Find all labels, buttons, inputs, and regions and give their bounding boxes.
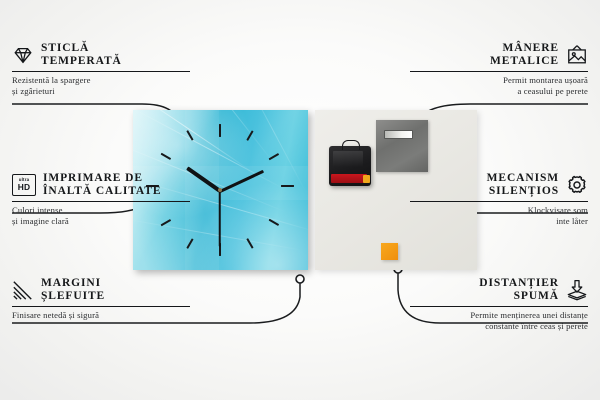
feature-title-line1: MARGINI	[41, 277, 105, 290]
clock-movement	[329, 146, 371, 186]
feature-subtitle-line1: Finisare netedă și sigură	[12, 310, 190, 321]
clock-tick	[269, 219, 279, 226]
feature-title-line2: TEMPERATĂ	[41, 55, 122, 68]
feature-polished-edges: MARGINI ȘLEFUITE Finisare netedă și sigu…	[12, 277, 190, 321]
feature-subtitle-line1: Permite menținerea unei distanțe	[410, 310, 588, 321]
gear-icon	[566, 174, 588, 196]
feature-foam-spacer: DISTANȚIER SPUMĂ Permite menținerea unei…	[410, 277, 588, 331]
feature-subtitle-line2: constante între ceas și perete	[410, 321, 588, 332]
clock-tick	[186, 130, 193, 140]
feature-title-line1: IMPRIMARE DE	[43, 172, 161, 185]
feature-title-line2: SILENȚIOS	[487, 185, 559, 198]
clock-tick	[219, 124, 221, 137]
movement-bail	[342, 140, 360, 150]
clock-tick	[246, 238, 253, 248]
feature-title-line2: ÎNALTĂ CALITATE	[43, 185, 161, 198]
clock-tick	[281, 185, 294, 187]
feature-divider	[12, 201, 190, 202]
feature-subtitle-line1: Rezistentă la spargere	[12, 75, 190, 86]
battery-polarity-mark	[363, 175, 370, 183]
feature-metal-handles: MÂNERE METALICE Permit montarea ușoară a…	[410, 42, 588, 96]
clock-tick	[246, 130, 253, 140]
feature-subtitle-line1: Culori intense	[12, 205, 190, 216]
arrow-down-stack-icon	[566, 279, 588, 301]
clock-second-hand	[219, 191, 221, 247]
clock-tick	[269, 153, 279, 160]
feature-subtitle-line2: și imagine clară	[12, 216, 190, 227]
picture-frame-hanger-icon	[566, 44, 588, 66]
ultra-hd-icon-large-text: HD	[18, 183, 31, 191]
feature-subtitle-line2: și zgârieturi	[12, 86, 190, 97]
metal-hanger-plate	[376, 120, 428, 172]
clock-tick	[161, 153, 171, 160]
feature-title-line1: STICLĂ	[41, 42, 122, 55]
clock-hour-hand	[186, 166, 221, 192]
foam-spacer-pad	[381, 243, 398, 260]
ultra-hd-icon: ultra HD	[12, 174, 36, 196]
diagonal-lines-icon	[12, 279, 34, 301]
hanger-slot	[384, 130, 413, 139]
movement-face	[333, 151, 363, 167]
feature-silent-mechanism: MECANISM SILENȚIOS Klockvisare som inte …	[410, 172, 588, 226]
feature-title-line1: MÂNERE	[490, 42, 559, 55]
feature-subtitle-line1: Klockvisare som	[410, 205, 588, 216]
feature-divider	[12, 71, 190, 72]
feature-subtitle-line2: a ceasului pe perete	[410, 86, 588, 97]
feature-title-line2: METALICE	[490, 55, 559, 68]
clock-center-pin	[218, 188, 222, 192]
diamond-icon	[12, 44, 34, 66]
connector-node-polished-edges	[296, 275, 304, 283]
feature-title-line1: MECANISM	[487, 172, 559, 185]
feature-divider	[410, 71, 588, 72]
feature-title-line2: SPUMĂ	[479, 290, 559, 303]
feature-high-quality-print: ultra HD IMPRIMARE DE ÎNALTĂ CALITATE Cu…	[12, 172, 190, 226]
feature-divider	[410, 306, 588, 307]
feature-divider	[12, 306, 190, 307]
feature-divider	[410, 201, 588, 202]
clock-tick	[186, 238, 193, 248]
feature-tempered-glass: STICLĂ TEMPERATĂ Rezistentă la spargere …	[12, 42, 190, 96]
feature-subtitle-line2: inte låter	[410, 216, 588, 227]
feature-title-line1: DISTANȚIER	[479, 277, 559, 290]
infographic-canvas: STICLĂ TEMPERATĂ Rezistentă la spargere …	[0, 0, 600, 400]
feature-subtitle-line1: Permit montarea ușoară	[410, 75, 588, 86]
clock-minute-hand	[219, 169, 264, 192]
battery-label	[331, 174, 367, 183]
feature-title-line2: ȘLEFUITE	[41, 290, 105, 303]
